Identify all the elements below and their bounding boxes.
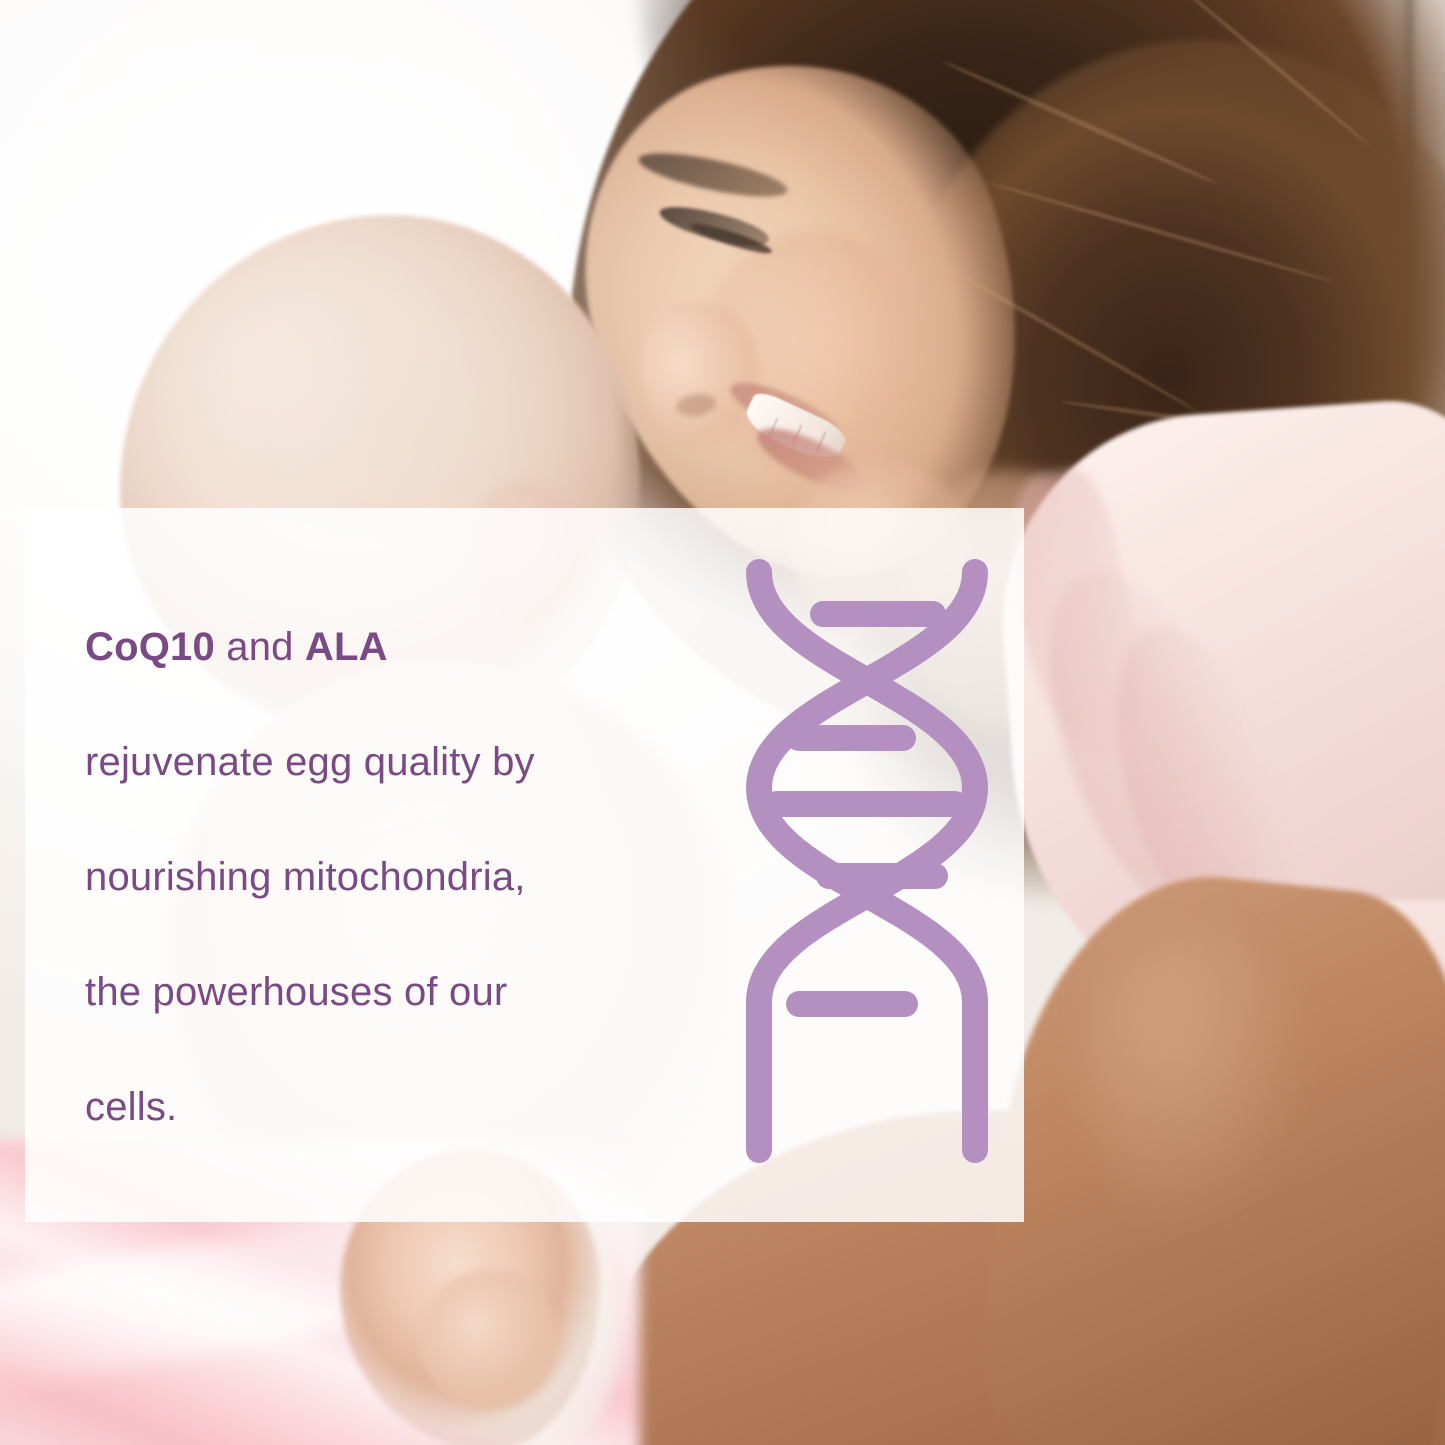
arm-highlight [1080,930,1310,1230]
headline-line-5: cells. [85,1050,725,1165]
headline-line-2: rejuvenate egg quality by [85,705,725,820]
headline-ala: ALA [305,625,388,669]
headline-coq10: CoQ10 [85,625,215,669]
headline-line-4: the powerhouses of our [85,935,725,1050]
dna-helix-svg [737,556,997,1166]
dna-helix-icon [737,556,997,1166]
headline-line-1: CoQ10 and ALA [85,590,725,705]
headline-line-3: nourishing mitochondria, [85,820,725,935]
headline-copy-block: CoQ10 and ALA rejuvenate egg quality by … [85,590,725,1165]
baby-fist [420,1270,560,1410]
promo-graphic-canvas: CoQ10 and ALA rejuvenate egg quality by … [0,0,1445,1445]
text-overlay-panel: CoQ10 and ALA rejuvenate egg quality by … [25,508,1024,1222]
headline-and: and [215,625,305,669]
